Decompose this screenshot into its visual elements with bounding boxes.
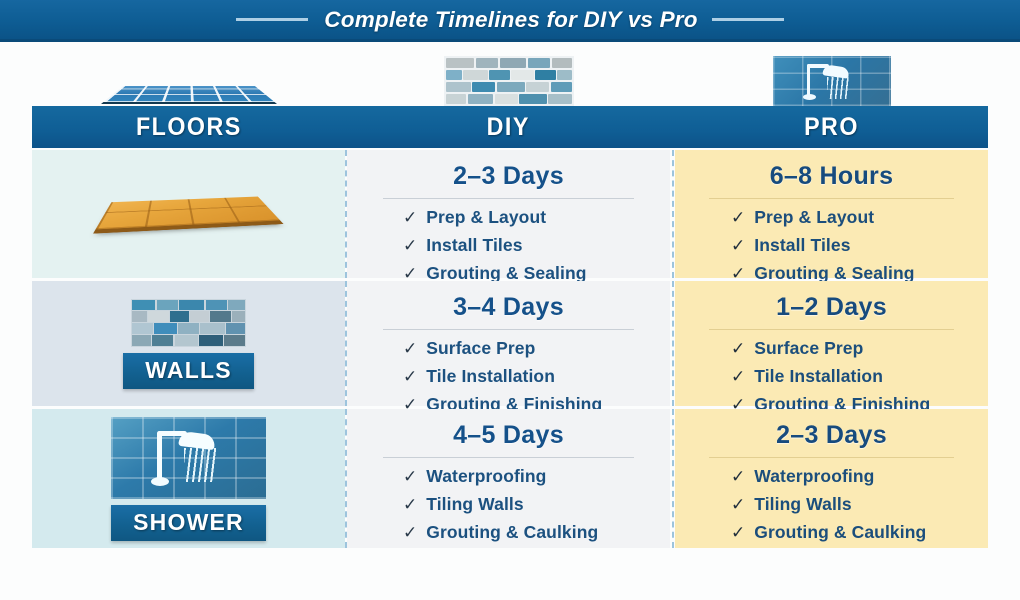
title-bar: Complete Timelines for DIY vs Pro bbox=[0, 0, 1020, 42]
duration-label: 1–2 Days bbox=[776, 293, 887, 322]
row-pro-cell: 2–3 Days ✓Waterproofing ✓Tiling Walls ✓G… bbox=[675, 409, 988, 548]
table-row: SHOWER 4–5 Days ✓Waterproofing ✓Tiling W… bbox=[32, 409, 988, 548]
column-header-pro-label: PRO bbox=[804, 113, 859, 142]
title-rule-left-icon bbox=[236, 18, 308, 21]
duration-underline bbox=[709, 198, 953, 199]
column-header-floors-label: FLOORS bbox=[136, 113, 242, 142]
floor-tiles-icon bbox=[101, 58, 277, 106]
check-icon: ✓ bbox=[403, 468, 417, 485]
page-title: Complete Timelines for DIY vs Pro bbox=[324, 7, 697, 33]
step-list: ✓Waterproofing ✓Tiling Walls ✓Grouting &… bbox=[347, 466, 670, 550]
column-icon-diy bbox=[347, 48, 670, 106]
row-pro-cell: 6–8 Hours ✓Prep & Layout ✓Install Tiles … bbox=[675, 150, 988, 278]
column-header-band: FLOORS DIY PRO bbox=[32, 106, 988, 148]
step-label: Waterproofing bbox=[754, 466, 874, 487]
list-item: ✓Surface Prep bbox=[403, 338, 670, 359]
row-diy-cell: 3–4 Days ✓Surface Prep ✓Tile Installatio… bbox=[347, 281, 670, 406]
check-icon: ✓ bbox=[403, 265, 417, 282]
column-divider bbox=[672, 281, 674, 406]
row-diy-cell: 2–3 Days ✓Prep & Layout ✓Install Tiles ✓… bbox=[347, 150, 670, 278]
list-item: ✓Surface Prep bbox=[731, 338, 988, 359]
step-label: Install Tiles bbox=[426, 235, 522, 256]
check-icon: ✓ bbox=[731, 237, 745, 254]
step-label: Tile Installation bbox=[754, 366, 883, 387]
list-item: ✓Install Tiles bbox=[731, 235, 988, 256]
list-item: ✓Prep & Layout bbox=[731, 207, 988, 228]
check-icon: ✓ bbox=[731, 368, 745, 385]
wall-mosaic-tiles-photo: WALLS bbox=[32, 281, 345, 406]
step-label: Grouting & Caulking bbox=[426, 522, 598, 543]
check-icon: ✓ bbox=[403, 209, 417, 226]
check-icon: ✓ bbox=[731, 468, 745, 485]
step-list: ✓Prep & Layout ✓Install Tiles ✓Grouting … bbox=[675, 207, 988, 291]
table-body: 2–3 Days ✓Prep & Layout ✓Install Tiles ✓… bbox=[32, 150, 988, 548]
surface-badge: WALLS bbox=[123, 353, 254, 389]
list-item: ✓Waterproofing bbox=[403, 466, 670, 487]
subway-tiles-icon bbox=[444, 56, 574, 106]
check-icon: ✓ bbox=[731, 340, 745, 357]
list-item: ✓Tiling Walls bbox=[403, 494, 670, 515]
surface-badge: SHOWER bbox=[111, 505, 266, 541]
check-icon: ✓ bbox=[731, 265, 745, 282]
column-header-diy-label: DIY bbox=[487, 113, 530, 142]
row-diy-cell: 4–5 Days ✓Waterproofing ✓Tiling Walls ✓G… bbox=[347, 409, 670, 548]
row-pro-cell: 1–2 Days ✓Surface Prep ✓Tile Installatio… bbox=[675, 281, 988, 406]
step-label: Install Tiles bbox=[754, 235, 850, 256]
list-item: ✓Prep & Layout bbox=[403, 207, 670, 228]
check-icon: ✓ bbox=[731, 496, 745, 513]
step-label: Tiling Walls bbox=[754, 494, 851, 515]
table-row: 2–3 Days ✓Prep & Layout ✓Install Tiles ✓… bbox=[32, 150, 988, 278]
step-label: Surface Prep bbox=[754, 338, 863, 359]
check-icon: ✓ bbox=[731, 209, 745, 226]
duration-label: 4–5 Days bbox=[453, 421, 564, 450]
column-header-floors: FLOORS bbox=[32, 106, 345, 148]
duration-underline bbox=[383, 329, 635, 330]
step-label: Tiling Walls bbox=[426, 494, 523, 515]
column-icon-row bbox=[32, 48, 988, 106]
duration-underline bbox=[709, 457, 953, 458]
list-item: ✓Waterproofing bbox=[731, 466, 988, 487]
column-header-pro: PRO bbox=[675, 106, 988, 148]
step-label: Prep & Layout bbox=[754, 207, 874, 228]
duration-label: 2–3 Days bbox=[453, 162, 564, 191]
column-icon-floors bbox=[32, 48, 345, 106]
shower-tiles-icon bbox=[773, 56, 891, 106]
duration-label: 2–3 Days bbox=[776, 421, 887, 450]
row-image-cell bbox=[32, 150, 345, 278]
table-row: WALLS 3–4 Days ✓Surface Prep ✓Tile Insta… bbox=[32, 281, 988, 406]
duration-label: 3–4 Days bbox=[453, 293, 564, 322]
infographic-page: Complete Timelines for DIY vs Pro bbox=[0, 0, 1020, 600]
list-item: ✓Grouting & Caulking bbox=[731, 522, 988, 543]
row-image-cell: WALLS bbox=[32, 281, 345, 406]
check-icon: ✓ bbox=[403, 496, 417, 513]
column-header-diy: DIY bbox=[347, 106, 670, 148]
duration-label: 6–8 Hours bbox=[770, 162, 894, 191]
title-rule-right-icon bbox=[712, 18, 784, 21]
column-icon-pro bbox=[675, 48, 988, 106]
duration-underline bbox=[383, 198, 635, 199]
list-item: ✓Tiling Walls bbox=[731, 494, 988, 515]
check-icon: ✓ bbox=[403, 340, 417, 357]
step-list: ✓Prep & Layout ✓Install Tiles ✓Grouting … bbox=[347, 207, 670, 291]
check-icon: ✓ bbox=[403, 368, 417, 385]
check-icon: ✓ bbox=[403, 524, 417, 541]
step-label: Surface Prep bbox=[426, 338, 535, 359]
floor-tile-slab-photo bbox=[32, 150, 345, 278]
check-icon: ✓ bbox=[403, 237, 417, 254]
step-label: Tile Installation bbox=[426, 366, 555, 387]
step-list: ✓Waterproofing ✓Tiling Walls ✓Grouting &… bbox=[675, 466, 988, 550]
duration-underline bbox=[383, 457, 635, 458]
list-item: ✓Install Tiles bbox=[403, 235, 670, 256]
list-item: ✓Tile Installation bbox=[731, 366, 988, 387]
list-item: ✓Tile Installation bbox=[403, 366, 670, 387]
check-icon: ✓ bbox=[731, 524, 745, 541]
step-label: Waterproofing bbox=[426, 466, 546, 487]
step-label: Grouting & Caulking bbox=[754, 522, 926, 543]
row-image-cell: SHOWER bbox=[32, 409, 345, 548]
column-divider bbox=[672, 409, 674, 548]
column-divider bbox=[672, 150, 674, 278]
comparison-table: FLOORS DIY PRO 2–3 Days bbox=[32, 48, 988, 548]
tiled-shower-photo: SHOWER bbox=[32, 409, 345, 548]
list-item: ✓Grouting & Caulking bbox=[403, 522, 670, 543]
duration-underline bbox=[709, 329, 953, 330]
step-label: Prep & Layout bbox=[426, 207, 546, 228]
